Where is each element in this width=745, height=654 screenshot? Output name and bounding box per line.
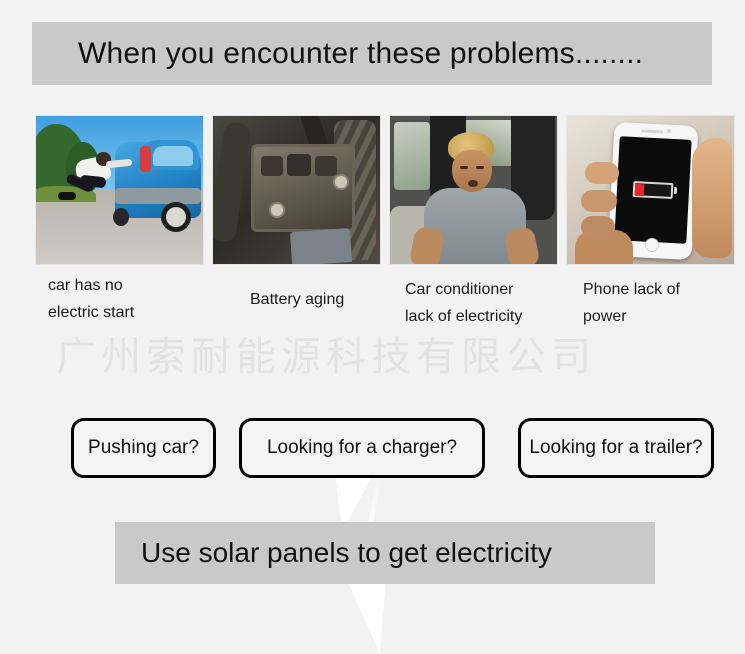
question-pill-looking-for-charger[interactable]: Looking for a charger?: [239, 418, 485, 478]
problem-caption-1-line-1: car has no: [48, 272, 204, 299]
header-banner: When you encounter these problems.......…: [32, 22, 712, 85]
footer-title: Use solar panels to get electricity: [141, 537, 552, 569]
page-title: When you encounter these problems.......…: [78, 37, 643, 71]
problem-caption-2: Battery aging: [212, 272, 381, 330]
problem-caption-3-line-1: Car conditioner: [405, 276, 558, 303]
footer-banner: Use solar panels to get electricity: [115, 522, 655, 584]
problem-photo-3: [389, 115, 558, 265]
problem-photo-1: [35, 115, 204, 265]
question-pill-pushing-car[interactable]: Pushing car?: [71, 418, 216, 478]
problem-photo-2: [212, 115, 381, 265]
question-pill-pushing-car-label: Pushing car?: [88, 437, 199, 459]
background-streak-lower-icon: [346, 578, 394, 654]
problem-caption-row: car has no electric start Battery aging …: [35, 272, 725, 330]
question-pill-looking-for-trailer[interactable]: Looking for a trailer?: [518, 418, 714, 478]
problem-caption-4: Phone lack of power: [566, 272, 735, 330]
problem-image-row: [35, 115, 725, 265]
problem-caption-4-line-1: Phone lack of: [583, 276, 735, 303]
problem-photo-4: [566, 115, 735, 265]
problem-caption-1-line-2: electric start: [48, 299, 204, 326]
question-pill-row: Pushing car? Looking for a charger? Look…: [0, 418, 745, 478]
problem-caption-3: Car conditioner lack of electricity: [389, 272, 558, 330]
problem-caption-4-line-2: power: [583, 303, 735, 330]
question-pill-looking-for-charger-label: Looking for a charger?: [267, 437, 457, 459]
problem-caption-2-line-1: Battery aging: [250, 286, 381, 313]
company-watermark: 广州索耐能源科技有限公司: [56, 324, 596, 382]
question-pill-looking-for-trailer-label: Looking for a trailer?: [529, 437, 702, 459]
problem-caption-3-line-2: lack of electricity: [405, 303, 558, 330]
promo-slide: When you encounter these problems.......…: [0, 0, 745, 654]
problem-caption-1: car has no electric start: [35, 272, 204, 330]
